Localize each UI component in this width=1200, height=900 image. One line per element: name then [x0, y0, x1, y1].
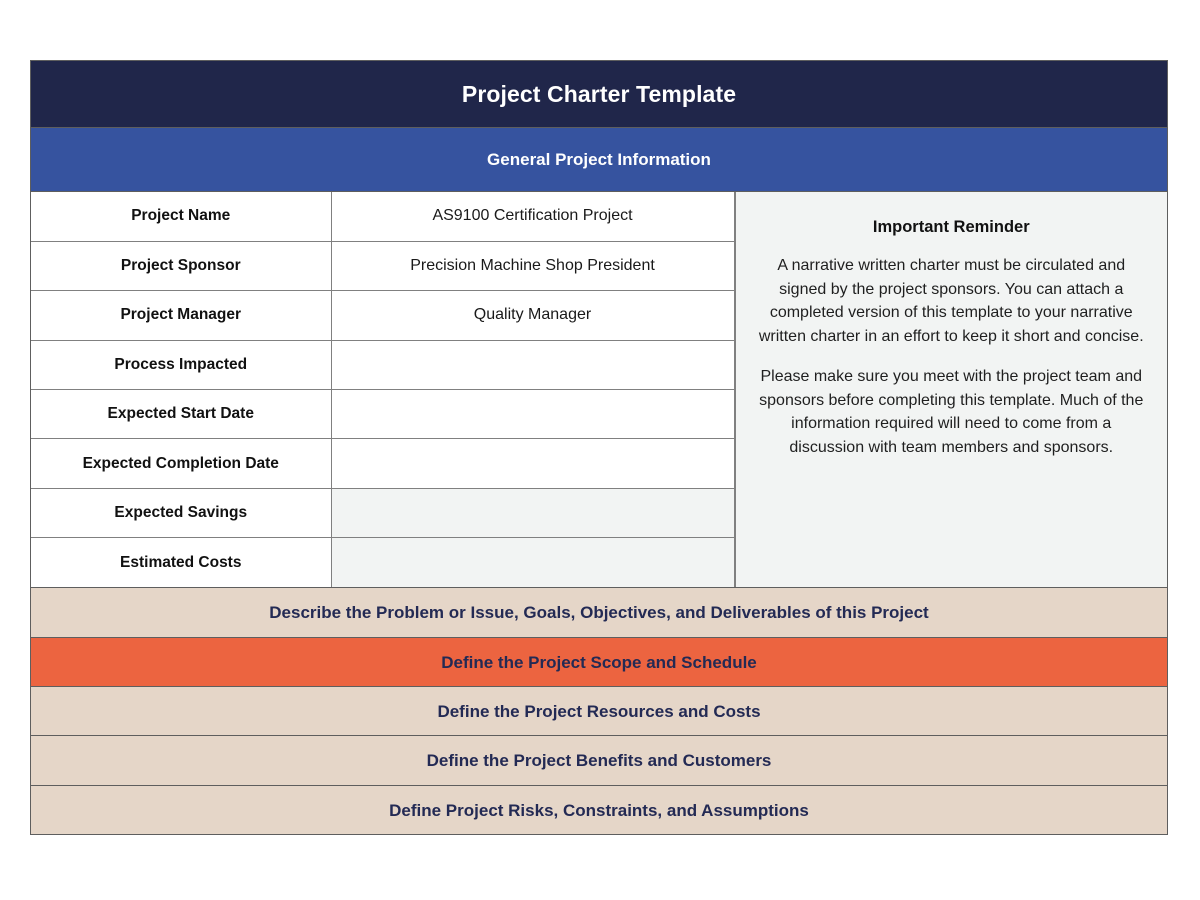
- table-row: Project Name AS9100 Certification Projec…: [31, 192, 734, 241]
- field-label-project-name: Project Name: [31, 192, 331, 241]
- field-value-project-sponsor[interactable]: Precision Machine Shop President: [331, 241, 734, 290]
- field-label-expected-savings: Expected Savings: [31, 488, 331, 537]
- section-bar-describe-problem[interactable]: Describe the Problem or Issue, Goals, Ob…: [31, 587, 1167, 636]
- important-reminder-title: Important Reminder: [754, 218, 1150, 237]
- field-label-expected-start-date: Expected Start Date: [31, 390, 331, 439]
- section-bar-define-scope-and-schedule[interactable]: Define the Project Scope and Schedule: [31, 637, 1167, 686]
- page-canvas: Project Charter Template General Project…: [0, 0, 1200, 900]
- document-title: Project Charter Template: [31, 61, 1167, 127]
- project-info-table: Project Name AS9100 Certification Projec…: [31, 192, 735, 587]
- field-label-estimated-costs: Estimated Costs: [31, 538, 331, 587]
- table-row: Expected Start Date: [31, 390, 734, 439]
- table-row: Estimated Costs: [31, 538, 734, 587]
- field-label-process-impacted: Process Impacted: [31, 340, 331, 389]
- table-row: Project Sponsor Precision Machine Shop P…: [31, 241, 734, 290]
- field-label-expected-completion-date: Expected Completion Date: [31, 439, 331, 488]
- field-value-expected-start-date[interactable]: [331, 390, 734, 439]
- table-row: Expected Completion Date: [31, 439, 734, 488]
- field-label-project-sponsor: Project Sponsor: [31, 241, 331, 290]
- field-value-project-name[interactable]: AS9100 Certification Project: [331, 192, 734, 241]
- table-row: Process Impacted: [31, 340, 734, 389]
- field-value-project-manager[interactable]: Quality Manager: [331, 291, 734, 340]
- project-charter-table: Project Charter Template General Project…: [30, 60, 1168, 835]
- field-value-process-impacted[interactable]: [331, 340, 734, 389]
- section-bar-define-benefits-and-customers[interactable]: Define the Project Benefits and Customer…: [31, 735, 1167, 784]
- field-value-expected-completion-date[interactable]: [331, 439, 734, 488]
- section-bar-define-risks-constraints-assumptions[interactable]: Define Project Risks, Constraints, and A…: [31, 785, 1167, 834]
- important-reminder-paragraph-2: Please make sure you meet with the proje…: [754, 365, 1150, 459]
- general-project-information-region: Project Name AS9100 Certification Projec…: [31, 191, 1167, 587]
- field-value-estimated-costs[interactable]: [331, 538, 734, 587]
- important-reminder-paragraph-1: A narrative written charter must be circ…: [754, 254, 1150, 348]
- table-row: Expected Savings: [31, 488, 734, 537]
- section-header-general-project-information: General Project Information: [31, 127, 1167, 191]
- important-reminder-panel: Important Reminder A narrative written c…: [735, 192, 1168, 587]
- project-info-body: Project Name AS9100 Certification Projec…: [31, 192, 734, 587]
- table-row: Project Manager Quality Manager: [31, 291, 734, 340]
- field-value-expected-savings[interactable]: [331, 488, 734, 537]
- field-label-project-manager: Project Manager: [31, 291, 331, 340]
- section-bar-define-resources-and-costs[interactable]: Define the Project Resources and Costs: [31, 686, 1167, 735]
